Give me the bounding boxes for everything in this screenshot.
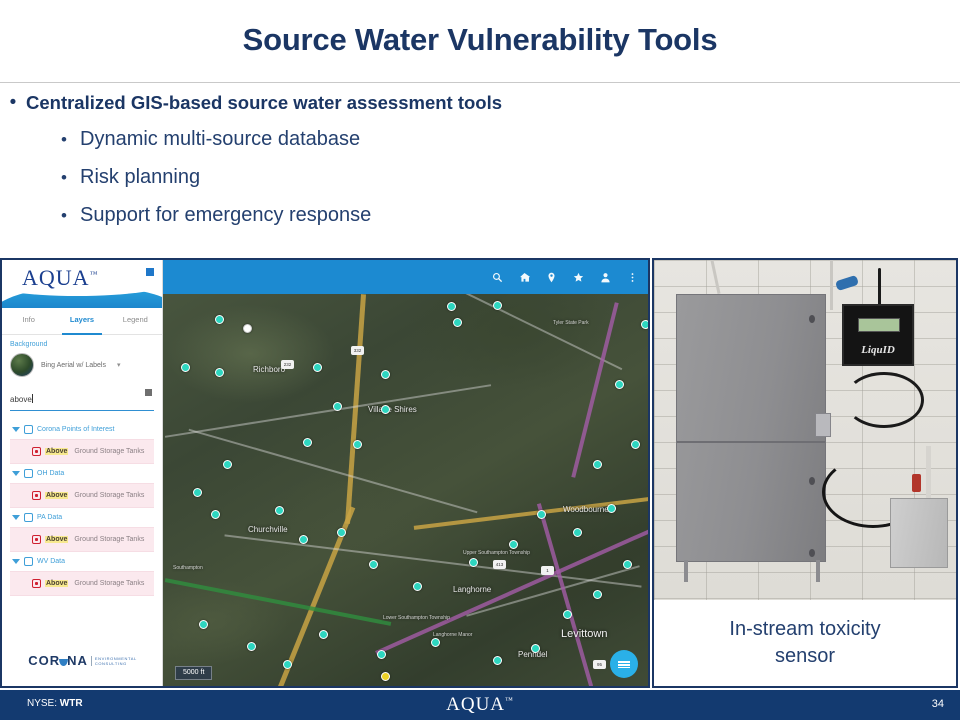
gis-app-screenshot: AQUA™ Info Layers Legend Background Bing… bbox=[0, 258, 650, 688]
layer-item[interactable]: Above Ground Storage Tanks bbox=[10, 439, 154, 464]
title-divider bbox=[0, 82, 960, 83]
map-marker[interactable] bbox=[493, 301, 502, 310]
footer-logo-tm: ™ bbox=[505, 696, 514, 705]
map-marker[interactable] bbox=[215, 368, 224, 377]
cabinet-leg bbox=[816, 560, 820, 582]
layer-label-highlight: Above bbox=[45, 448, 68, 455]
layer-label-rest: Ground Storage Tanks bbox=[74, 492, 144, 499]
cable-coil bbox=[844, 372, 924, 428]
aqua-logo-text: AQUA bbox=[22, 265, 90, 290]
tab-legend[interactable]: Legend bbox=[109, 308, 162, 334]
map-marker[interactable] bbox=[369, 560, 378, 569]
layer-label-highlight: Above bbox=[45, 580, 68, 587]
bullet-text: Dynamic multi-source database bbox=[80, 122, 360, 157]
corona-logo: CORNAENVIRONMENTALCONSULTING bbox=[2, 652, 163, 670]
conduit-pipe bbox=[830, 260, 833, 310]
red-valve bbox=[912, 474, 921, 492]
layer-label-rest: Ground Storage Tanks bbox=[74, 536, 144, 543]
layer-group-header[interactable]: OH Data bbox=[10, 464, 154, 483]
route-shield: 232 bbox=[281, 360, 294, 369]
route-shield: 332 bbox=[351, 346, 364, 355]
bullet-text: Support for emergency response bbox=[80, 198, 371, 233]
map-marker[interactable] bbox=[493, 656, 502, 665]
chevron-down-icon[interactable] bbox=[12, 559, 20, 564]
map-marker[interactable] bbox=[641, 320, 648, 329]
map-place-label: Langhorne Manor bbox=[433, 632, 472, 638]
bullet-item-1: • Centralized GIS-based source water ass… bbox=[0, 90, 760, 116]
equipment-cabinet bbox=[676, 294, 826, 562]
map-marker[interactable] bbox=[319, 630, 328, 639]
layer-search-input[interactable]: above bbox=[10, 387, 154, 411]
basemap-name: Bing Aerial w/ Labels bbox=[41, 362, 106, 369]
bullet-dot-icon: • bbox=[0, 90, 26, 116]
map-marker[interactable] bbox=[199, 620, 208, 629]
layer-group-label: OH Data bbox=[37, 470, 64, 477]
map-marker[interactable] bbox=[313, 363, 322, 372]
route-shield: 95 bbox=[593, 660, 606, 669]
map-place-label: Langhorne bbox=[453, 585, 491, 594]
route-shield: 1 bbox=[541, 566, 554, 575]
analyzer-display bbox=[858, 318, 900, 332]
map-marker[interactable] bbox=[333, 402, 342, 411]
photo-panel: LiquID In-stream toxicity sensor bbox=[652, 258, 958, 688]
map-marker[interactable] bbox=[623, 560, 632, 569]
text-cursor bbox=[32, 394, 33, 403]
bullet-dot-icon: • bbox=[48, 122, 80, 157]
clear-icon[interactable] bbox=[145, 389, 152, 396]
map-marker[interactable] bbox=[381, 370, 390, 379]
layer-label-highlight: Above bbox=[45, 536, 68, 543]
title-area: Source Water Vulnerability Tools bbox=[0, 0, 960, 82]
cabinet-latch bbox=[815, 413, 831, 437]
map-place-label: Southampton bbox=[173, 565, 203, 571]
panel-body: Background Bing Aerial w/ Labels ▾ above bbox=[2, 335, 162, 596]
chevron-down-icon: ▾ bbox=[117, 361, 121, 369]
layer-group-icon bbox=[24, 513, 33, 522]
layer-symbol-icon bbox=[32, 535, 41, 544]
map-marker[interactable] bbox=[381, 405, 390, 414]
layer-item[interactable]: Above Ground Storage Tanks bbox=[10, 527, 154, 552]
aqua-logo-tm: ™ bbox=[90, 270, 99, 279]
bullet-text: Risk planning bbox=[80, 160, 200, 195]
page-title: Source Water Vulnerability Tools bbox=[0, 22, 960, 58]
panel-tabs: Info Layers Legend bbox=[2, 308, 162, 335]
corona-logo-sub2: CONSULTING bbox=[95, 661, 127, 666]
map-place-label: Woodbourne bbox=[563, 505, 609, 514]
bullet-item-3: • Risk planning bbox=[0, 160, 760, 195]
map-scale-bar: 5000 ft bbox=[175, 666, 212, 680]
footer-logo-text: AQUA bbox=[446, 694, 505, 715]
liquid-analyzer: LiquID bbox=[842, 304, 914, 366]
slide-footer: NYSE: WTR AQUA™ 34 bbox=[0, 690, 960, 720]
map-marker[interactable] bbox=[593, 590, 602, 599]
cabinet-fastener bbox=[809, 549, 815, 557]
layer-group-header[interactable]: WV Data bbox=[10, 552, 154, 571]
map-marker[interactable] bbox=[211, 510, 220, 519]
auxiliary-enclosure bbox=[890, 498, 948, 568]
map-place-label: Churchville bbox=[248, 525, 288, 534]
map-place-label: Lower Southampton Township bbox=[383, 615, 450, 621]
cabinet-legs bbox=[680, 560, 822, 582]
map-marker[interactable] bbox=[593, 460, 602, 469]
layer-group-label: WV Data bbox=[37, 558, 65, 565]
map-place-label: Levittown bbox=[561, 628, 607, 640]
layer-group-icon bbox=[24, 469, 33, 478]
home-icon[interactable] bbox=[519, 272, 530, 283]
map-marker[interactable] bbox=[193, 488, 202, 497]
sensor-photo: LiquID bbox=[654, 260, 956, 600]
map-marker[interactable] bbox=[181, 363, 190, 372]
caption-line-1: In-stream toxicity bbox=[729, 618, 880, 640]
map-marker[interactable] bbox=[283, 660, 292, 669]
chevron-down-icon[interactable] bbox=[12, 471, 20, 476]
page-number: 34 bbox=[932, 698, 944, 710]
footer-logo: AQUA™ bbox=[0, 694, 960, 716]
layer-symbol-icon bbox=[32, 447, 41, 456]
map-marker[interactable] bbox=[431, 638, 440, 647]
bullet-dot-icon: • bbox=[48, 198, 80, 233]
map-marker[interactable] bbox=[353, 440, 362, 449]
map-marker[interactable] bbox=[537, 510, 546, 519]
bullet-item-4: • Support for emergency response bbox=[0, 198, 760, 233]
map-viewport[interactable]: Richboro Village Shires Churchville Sout… bbox=[163, 260, 648, 686]
location-pin-icon[interactable] bbox=[546, 272, 557, 283]
bullet-dot-icon: • bbox=[48, 160, 80, 195]
map-marker[interactable] bbox=[215, 315, 224, 324]
cabinet-fastener bbox=[809, 315, 815, 323]
bullet-item-2: • Dynamic multi-source database bbox=[0, 122, 760, 157]
layer-item[interactable]: Above Ground Storage Tanks bbox=[10, 571, 154, 596]
map-marker[interactable] bbox=[469, 558, 478, 567]
map-marker[interactable] bbox=[377, 650, 386, 659]
layer-label-highlight: Above bbox=[45, 492, 68, 499]
cabinet-leg bbox=[684, 560, 688, 582]
route-shield: 413 bbox=[493, 560, 506, 569]
map-marker[interactable] bbox=[275, 506, 284, 515]
map-marker[interactable] bbox=[413, 582, 422, 591]
media-band: AQUA™ Info Layers Legend Background Bing… bbox=[0, 258, 960, 690]
gis-panel-header: AQUA™ bbox=[2, 260, 162, 308]
bullet-text: Centralized GIS-based source water asses… bbox=[26, 90, 502, 116]
map-marker[interactable] bbox=[631, 440, 640, 449]
layer-label-rest: Ground Storage Tanks bbox=[74, 448, 144, 455]
background-section-label: Background bbox=[10, 341, 154, 348]
map-marker[interactable] bbox=[615, 380, 624, 389]
star-icon[interactable] bbox=[573, 272, 584, 283]
map-marker[interactable] bbox=[299, 535, 308, 544]
map-marker[interactable] bbox=[573, 528, 582, 537]
search-icon[interactable] bbox=[492, 272, 503, 283]
antenna bbox=[878, 268, 881, 306]
layer-group-label: Corona Points of Interest bbox=[37, 426, 114, 433]
chevron-down-icon[interactable] bbox=[12, 515, 20, 520]
corona-logo-left: COR bbox=[28, 653, 60, 668]
map-place-label: Upper Southampton Township bbox=[463, 550, 530, 556]
layer-symbol-icon bbox=[32, 491, 41, 500]
person-icon[interactable] bbox=[600, 272, 611, 283]
map-marker[interactable] bbox=[303, 438, 312, 447]
tab-info[interactable]: Info bbox=[2, 308, 55, 334]
map-marker[interactable] bbox=[247, 642, 256, 651]
bullet-list: • Centralized GIS-based source water ass… bbox=[0, 90, 760, 236]
layer-item[interactable]: Above Ground Storage Tanks bbox=[10, 483, 154, 508]
close-icon[interactable] bbox=[146, 268, 154, 276]
slide-root: Source Water Vulnerability Tools • Centr… bbox=[0, 0, 960, 720]
map-marker[interactable] bbox=[531, 644, 540, 653]
map-marker[interactable] bbox=[223, 460, 232, 469]
map-marker[interactable] bbox=[607, 504, 616, 513]
layer-list-icon[interactable] bbox=[610, 650, 638, 678]
sample-pipe bbox=[926, 446, 931, 504]
layer-group-header[interactable]: PA Data bbox=[10, 508, 154, 527]
map-marker[interactable] bbox=[453, 318, 462, 327]
aqua-logo: AQUA™ bbox=[22, 265, 98, 291]
more-vertical-icon[interactable] bbox=[627, 272, 638, 283]
search-value: above bbox=[10, 395, 32, 404]
basemap-thumbnail-icon bbox=[10, 353, 34, 377]
layer-group-icon bbox=[24, 557, 33, 566]
map-marker[interactable] bbox=[563, 610, 572, 619]
corona-logo-right: NA bbox=[67, 653, 88, 668]
cabinet-door-split bbox=[677, 441, 825, 443]
layer-group-icon bbox=[24, 425, 33, 434]
cabinet-fastener bbox=[809, 477, 815, 485]
caption-line-2: sensor bbox=[775, 645, 835, 667]
analyzer-brand-label: LiquID bbox=[844, 344, 912, 356]
map-marker[interactable] bbox=[509, 540, 518, 549]
map-marker-selected[interactable] bbox=[381, 672, 390, 681]
tab-layers[interactable]: Layers bbox=[55, 308, 108, 334]
gis-side-panel: AQUA™ Info Layers Legend Background Bing… bbox=[2, 260, 163, 686]
layer-group-header[interactable]: Corona Points of Interest bbox=[10, 420, 154, 439]
map-marker[interactable] bbox=[447, 302, 456, 311]
map-toolbar bbox=[163, 260, 648, 294]
layer-group-label: PA Data bbox=[37, 514, 62, 521]
map-marker[interactable] bbox=[243, 324, 252, 333]
layer-label-rest: Ground Storage Tanks bbox=[74, 580, 144, 587]
map-marker[interactable] bbox=[337, 528, 346, 537]
map-place-label: Tyler State Park bbox=[553, 320, 589, 326]
chevron-down-icon[interactable] bbox=[12, 427, 20, 432]
photo-caption: In-stream toxicity sensor bbox=[654, 600, 956, 686]
basemap-selector[interactable]: Bing Aerial w/ Labels ▾ bbox=[10, 353, 154, 377]
layer-symbol-icon bbox=[32, 579, 41, 588]
